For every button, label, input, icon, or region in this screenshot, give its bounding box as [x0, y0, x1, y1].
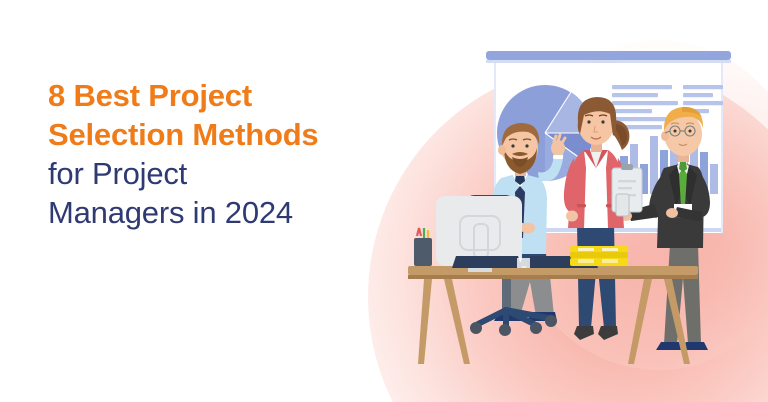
headline-line-2: Selection Methods	[48, 115, 408, 154]
headline-block: 8 Best Project Selection Methods for Pro…	[48, 76, 408, 232]
desk-tray	[570, 246, 628, 266]
office-team-illustration	[398, 28, 768, 402]
smartphone	[616, 194, 629, 216]
headline-line-3: for Project	[48, 154, 408, 193]
headline-line-1: 8 Best Project	[48, 76, 408, 115]
headline-line-4: Managers in 2024	[48, 193, 408, 232]
hero-banner: 8 Best Project Selection Methods for Pro…	[0, 0, 768, 402]
pencil-cup	[414, 228, 432, 266]
